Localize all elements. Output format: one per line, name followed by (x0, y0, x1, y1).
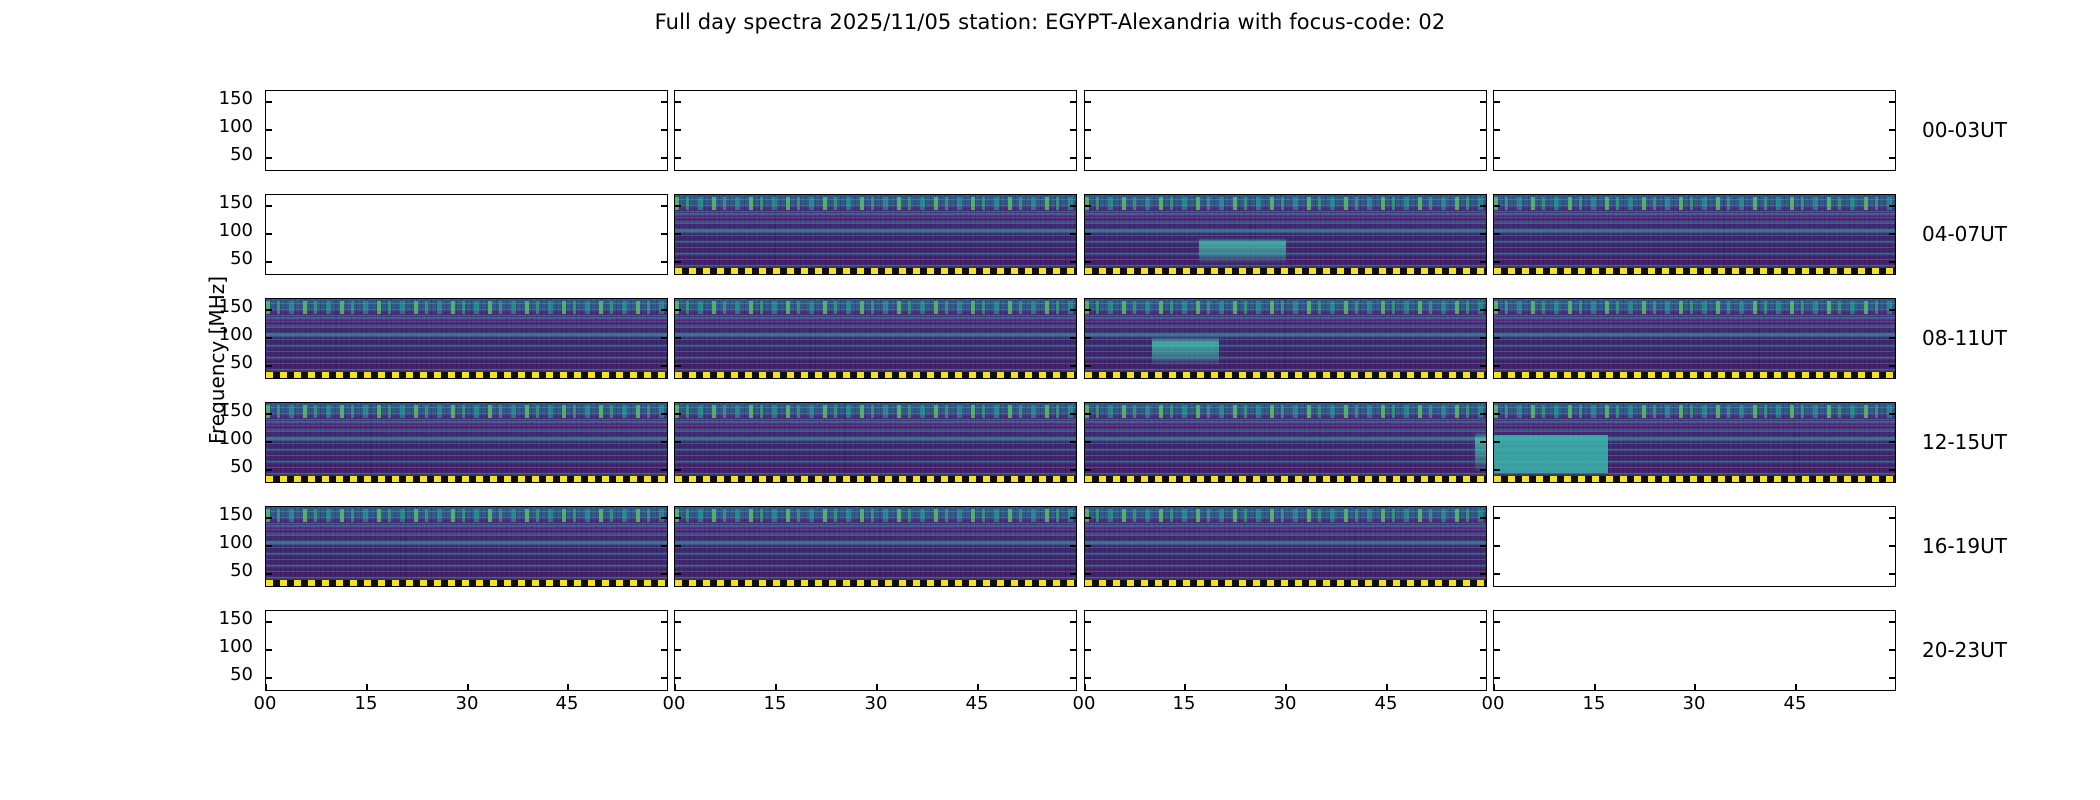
x-tick-label: 00 (1473, 693, 1513, 714)
spectrogram-image (1085, 299, 1486, 378)
y-tick-mark (1480, 233, 1487, 235)
y-tick-mark (661, 233, 668, 235)
x-tick-label: 00 (245, 693, 285, 714)
y-tick-mark (265, 365, 272, 367)
y-tick-mark (1493, 649, 1500, 651)
y-tick-label: 50 (201, 144, 253, 165)
y-tick-mark (1889, 573, 1896, 575)
y-tick-mark (1084, 101, 1091, 103)
y-tick-mark (1493, 129, 1500, 131)
y-tick-mark (1070, 413, 1077, 415)
y-tick-mark (1084, 337, 1091, 339)
y-tick-mark (1889, 649, 1896, 651)
spectrogram-image (266, 403, 667, 482)
figure-canvas: Full day spectra 2025/11/05 station: EGY… (0, 0, 2100, 800)
y-tick-label: 150 (201, 608, 253, 629)
spectrogram-feature (1494, 435, 1608, 473)
x-tick-label: 15 (346, 693, 386, 714)
event-marker-strip (675, 372, 1076, 378)
y-tick-mark (1480, 441, 1487, 443)
spectrogram-feature (1152, 337, 1219, 366)
y-tick-label: 50 (201, 560, 253, 581)
y-tick-mark (674, 233, 681, 235)
spectrogram-cell-21[interactable] (674, 610, 1077, 691)
x-tick-mark (1795, 684, 1797, 691)
y-tick-mark (1084, 517, 1091, 519)
y-tick-mark (1084, 309, 1091, 311)
y-tick-mark (661, 337, 668, 339)
x-tick-mark (775, 684, 777, 691)
y-tick-label: 100 (201, 532, 253, 553)
x-tick-label: 30 (1674, 693, 1714, 714)
spectrogram-image (1085, 403, 1486, 482)
y-tick-mark (674, 441, 681, 443)
y-tick-mark (674, 261, 681, 263)
x-tick-mark (1386, 684, 1388, 691)
y-tick-mark (661, 261, 668, 263)
x-tick-mark (876, 684, 878, 691)
spectrogram-image (675, 299, 1076, 378)
y-tick-label: 150 (201, 192, 253, 213)
y-tick-mark (1084, 469, 1091, 471)
y-tick-mark (674, 309, 681, 311)
y-tick-mark (1889, 261, 1896, 263)
y-tick-mark (1070, 677, 1077, 679)
spectrogram-cell-10[interactable] (1084, 298, 1487, 379)
y-tick-mark (265, 621, 272, 623)
y-tick-mark (1889, 233, 1896, 235)
event-marker-strip (1085, 268, 1486, 274)
spectrogram-cell-07[interactable] (1493, 194, 1896, 275)
row-label-1215ut: 12-15UT (1922, 430, 2007, 454)
y-tick-mark (265, 101, 272, 103)
y-tick-mark (265, 337, 272, 339)
y-tick-mark (661, 157, 668, 159)
spectrogram-cell-14[interactable] (1084, 402, 1487, 483)
y-tick-label: 100 (201, 428, 253, 449)
spectrogram-row (265, 506, 1896, 587)
y-tick-label: 50 (201, 664, 253, 685)
event-marker-strip (1085, 476, 1486, 482)
event-marker-strip (1494, 268, 1895, 274)
y-tick-mark (1493, 677, 1500, 679)
y-tick-label: 50 (201, 456, 253, 477)
y-tick-mark (1084, 649, 1091, 651)
x-tick-mark (366, 684, 368, 691)
y-tick-mark (1480, 205, 1487, 207)
y-tick-mark (1480, 649, 1487, 651)
y-tick-mark (674, 101, 681, 103)
y-tick-mark (1480, 621, 1487, 623)
y-tick-mark (265, 157, 272, 159)
y-tick-mark (1493, 309, 1500, 311)
row-label-0811ut: 08-11UT (1922, 326, 2007, 350)
spectrogram-cell-13[interactable] (674, 402, 1077, 483)
x-tick-label: 45 (1366, 693, 1406, 714)
row-label-0003ut: 00-03UT (1922, 118, 2007, 142)
y-tick-mark (1480, 101, 1487, 103)
spectrogram-cell-02[interactable] (1084, 90, 1487, 171)
y-tick-mark (1889, 469, 1896, 471)
spectrogram-cell-01[interactable] (674, 90, 1077, 171)
y-tick-mark (661, 413, 668, 415)
y-tick-mark (674, 469, 681, 471)
spectrogram-image (266, 299, 667, 378)
x-tick-label: 15 (1164, 693, 1204, 714)
y-tick-mark (1493, 469, 1500, 471)
y-tick-mark (265, 129, 272, 131)
y-tick-mark (265, 649, 272, 651)
y-tick-mark (661, 129, 668, 131)
y-tick-mark (1084, 365, 1091, 367)
y-tick-mark (265, 261, 272, 263)
y-tick-mark (265, 309, 272, 311)
x-tick-mark (1184, 684, 1186, 691)
spectrogram-row (265, 194, 1896, 275)
spectrogram-row (265, 610, 1896, 691)
y-tick-mark (1070, 337, 1077, 339)
y-tick-mark (1070, 621, 1077, 623)
y-tick-mark (674, 129, 681, 131)
spectrogram-feature (1199, 238, 1286, 264)
y-tick-mark (1084, 233, 1091, 235)
y-tick-mark (661, 469, 668, 471)
x-tick-mark (265, 684, 267, 691)
y-tick-mark (265, 413, 272, 415)
y-tick-mark (1070, 517, 1077, 519)
spectrogram-cell-06[interactable] (1084, 194, 1487, 275)
x-tick-mark (674, 684, 676, 691)
y-tick-mark (1070, 545, 1077, 547)
x-tick-label: 45 (1775, 693, 1815, 714)
spectrogram-cell-17[interactable] (674, 506, 1077, 587)
y-tick-mark (1480, 129, 1487, 131)
x-tick-mark (1084, 684, 1086, 691)
event-marker-strip (1085, 580, 1486, 586)
event-marker-strip (675, 580, 1076, 586)
x-tick-label: 15 (755, 693, 795, 714)
y-tick-mark (661, 101, 668, 103)
event-marker-strip (266, 372, 667, 378)
y-tick-mark (674, 517, 681, 519)
event-marker-strip (266, 580, 667, 586)
y-tick-mark (661, 545, 668, 547)
y-tick-mark (1889, 621, 1896, 623)
y-tick-mark (1493, 233, 1500, 235)
y-tick-mark (1889, 677, 1896, 679)
y-tick-mark (1493, 413, 1500, 415)
spectrogram-image (1085, 507, 1486, 586)
x-tick-label: 30 (856, 693, 896, 714)
event-marker-strip (1085, 372, 1486, 378)
y-tick-mark (1493, 517, 1500, 519)
y-tick-mark (1070, 233, 1077, 235)
spectrogram-row (265, 402, 1896, 483)
y-tick-mark (1070, 365, 1077, 367)
spectrogram-cell-04[interactable] (265, 194, 668, 275)
y-tick-mark (1889, 441, 1896, 443)
y-tick-mark (1889, 517, 1896, 519)
spectrogram-image (1494, 299, 1895, 378)
y-tick-mark (1889, 205, 1896, 207)
y-tick-mark (661, 309, 668, 311)
y-tick-mark (1493, 101, 1500, 103)
y-tick-mark (1493, 621, 1500, 623)
y-tick-mark (1889, 101, 1896, 103)
y-tick-mark (1480, 309, 1487, 311)
spectrogram-feature (1475, 432, 1487, 473)
spectrogram-cell-22[interactable] (1084, 610, 1487, 691)
y-tick-mark (265, 441, 272, 443)
y-tick-mark (1070, 469, 1077, 471)
y-tick-mark (661, 621, 668, 623)
event-marker-strip (675, 268, 1076, 274)
event-marker-strip (675, 476, 1076, 482)
spectrogram-cell-08[interactable] (265, 298, 668, 379)
y-tick-label: 150 (201, 88, 253, 109)
x-tick-mark (1694, 684, 1696, 691)
spectrogram-image (1494, 195, 1895, 274)
spectrogram-image (266, 507, 667, 586)
y-tick-mark (674, 545, 681, 547)
y-tick-mark (1070, 309, 1077, 311)
y-tick-label: 150 (201, 296, 253, 317)
y-tick-mark (661, 365, 668, 367)
y-tick-mark (1070, 441, 1077, 443)
y-tick-mark (265, 205, 272, 207)
event-marker-strip (1494, 372, 1895, 378)
y-tick-mark (1084, 129, 1091, 131)
y-tick-label: 50 (201, 352, 253, 373)
x-tick-label: 45 (957, 693, 997, 714)
y-tick-mark (1493, 545, 1500, 547)
event-marker-strip (1494, 476, 1895, 482)
row-label-0407ut: 04-07UT (1922, 222, 2007, 246)
spectrogram-cell-03[interactable] (1493, 90, 1896, 171)
page-title: Full day spectra 2025/11/05 station: EGY… (0, 10, 2100, 34)
x-tick-label: 30 (1265, 693, 1305, 714)
y-tick-mark (1070, 205, 1077, 207)
x-tick-mark (467, 684, 469, 691)
y-tick-mark (1493, 205, 1500, 207)
y-tick-mark (265, 545, 272, 547)
y-tick-mark (674, 621, 681, 623)
x-tick-label: 15 (1574, 693, 1614, 714)
y-tick-mark (674, 649, 681, 651)
x-tick-mark (1493, 684, 1495, 691)
y-tick-mark (1070, 573, 1077, 575)
spectrogram-row (265, 90, 1896, 171)
y-tick-mark (661, 573, 668, 575)
y-tick-mark (1084, 261, 1091, 263)
spectrogram-cell-12[interactable] (265, 402, 668, 483)
y-tick-mark (1084, 205, 1091, 207)
x-tick-mark (1594, 684, 1596, 691)
y-tick-mark (1493, 365, 1500, 367)
x-tick-mark (977, 684, 979, 691)
y-tick-mark (1889, 337, 1896, 339)
y-tick-mark (674, 413, 681, 415)
y-tick-label: 100 (201, 220, 253, 241)
y-tick-mark (1493, 157, 1500, 159)
y-tick-mark (674, 157, 681, 159)
y-tick-mark (674, 337, 681, 339)
y-tick-mark (1889, 545, 1896, 547)
spectrogram-cell-18[interactable] (1084, 506, 1487, 587)
spectrogram-cell-00[interactable] (265, 90, 668, 171)
spectrogram-row (265, 298, 1896, 379)
row-label-1619ut: 16-19UT (1922, 534, 2007, 558)
y-tick-label: 100 (201, 636, 253, 657)
y-tick-mark (1493, 573, 1500, 575)
y-tick-mark (661, 205, 668, 207)
spectrogram-cell-09[interactable] (674, 298, 1077, 379)
y-tick-mark (265, 469, 272, 471)
x-tick-label: 00 (654, 693, 694, 714)
y-tick-mark (1084, 621, 1091, 623)
y-tick-label: 100 (201, 116, 253, 137)
y-tick-mark (674, 205, 681, 207)
y-tick-mark (1070, 101, 1077, 103)
y-tick-mark (661, 441, 668, 443)
y-tick-mark (1084, 573, 1091, 575)
y-tick-mark (265, 573, 272, 575)
y-tick-label: 100 (201, 324, 253, 345)
y-tick-mark (1480, 261, 1487, 263)
spectrogram-cell-23[interactable] (1493, 610, 1896, 691)
spectrogram-cell-11[interactable] (1493, 298, 1896, 379)
y-tick-mark (1084, 157, 1091, 159)
y-tick-mark (674, 573, 681, 575)
x-tick-mark (567, 684, 569, 691)
y-tick-mark (1493, 337, 1500, 339)
y-tick-mark (1084, 413, 1091, 415)
x-tick-label: 45 (547, 693, 587, 714)
x-tick-label: 30 (447, 693, 487, 714)
y-tick-mark (1480, 517, 1487, 519)
y-tick-mark (1070, 157, 1077, 159)
y-tick-mark (1480, 677, 1487, 679)
y-tick-mark (265, 233, 272, 235)
y-tick-mark (265, 677, 272, 679)
y-tick-mark (1889, 157, 1896, 159)
y-tick-mark (674, 365, 681, 367)
y-tick-mark (1070, 649, 1077, 651)
y-tick-mark (265, 517, 272, 519)
spectrogram-cell-15[interactable] (1493, 402, 1896, 483)
y-tick-mark (1493, 261, 1500, 263)
x-tick-mark (1285, 684, 1287, 691)
y-tick-mark (1889, 365, 1896, 367)
y-tick-mark (1480, 545, 1487, 547)
y-tick-mark (661, 677, 668, 679)
row-label-2023ut: 20-23UT (1922, 638, 2007, 662)
spectrogram-cell-20[interactable] (265, 610, 668, 691)
spectrogram-image (675, 195, 1076, 274)
x-tick-label: 00 (1064, 693, 1104, 714)
event-marker-strip (266, 476, 667, 482)
y-tick-mark (1070, 261, 1077, 263)
spectrogram-image (675, 403, 1076, 482)
y-tick-label: 150 (201, 400, 253, 421)
spectrogram-image (675, 507, 1076, 586)
y-tick-mark (1493, 441, 1500, 443)
y-tick-mark (661, 649, 668, 651)
spectrogram-cell-05[interactable] (674, 194, 1077, 275)
y-tick-label: 50 (201, 248, 253, 269)
y-tick-mark (1889, 309, 1896, 311)
y-tick-mark (1480, 337, 1487, 339)
spectrogram-cell-16[interactable] (265, 506, 668, 587)
y-tick-mark (1084, 677, 1091, 679)
y-tick-mark (1889, 413, 1896, 415)
y-tick-label: 150 (201, 504, 253, 525)
spectrogram-cell-19[interactable] (1493, 506, 1896, 587)
y-tick-mark (1084, 545, 1091, 547)
y-tick-mark (661, 517, 668, 519)
y-tick-mark (1070, 129, 1077, 131)
y-tick-mark (1480, 413, 1487, 415)
y-tick-mark (1889, 129, 1896, 131)
y-tick-mark (1480, 469, 1487, 471)
y-tick-mark (1084, 441, 1091, 443)
y-tick-mark (1480, 157, 1487, 159)
y-tick-mark (674, 677, 681, 679)
y-tick-mark (1480, 573, 1487, 575)
y-tick-mark (1480, 365, 1487, 367)
